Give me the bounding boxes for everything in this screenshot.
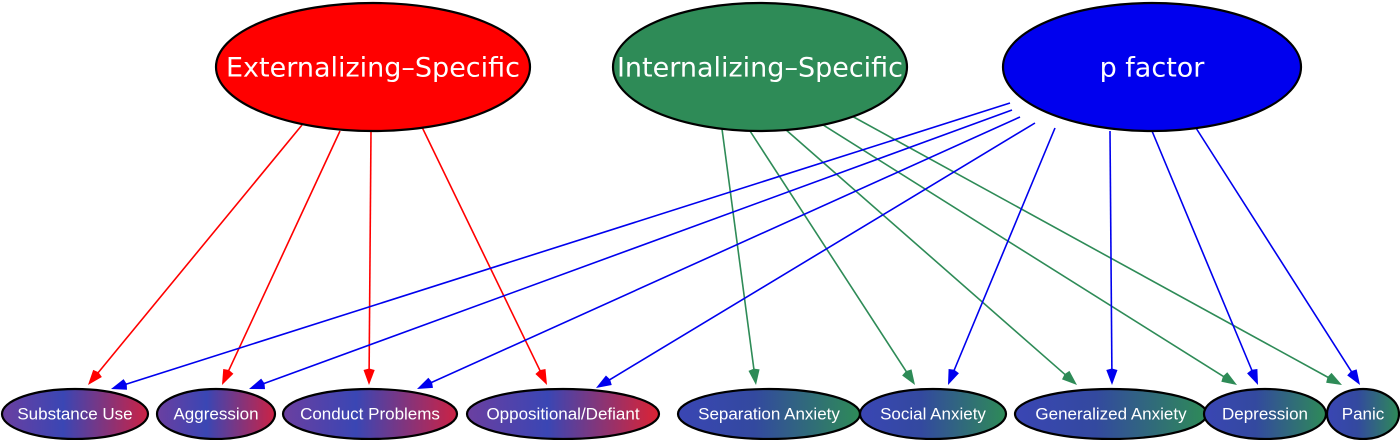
arrow-head-icon xyxy=(535,369,547,385)
path-diagram-canvas: Substance UseAggressionConduct ProblemsO… xyxy=(0,0,1400,440)
edge-internalizing-to-depression xyxy=(820,123,1237,385)
arrow-head-icon xyxy=(748,369,759,385)
edge-line xyxy=(785,129,1067,376)
factor-label: p factor xyxy=(1100,53,1206,84)
arrow-head-icon xyxy=(596,375,612,388)
indicator-label: Panic xyxy=(1342,404,1385,423)
indicator-label: Conduct Problems xyxy=(300,404,440,423)
arrow-head-icon xyxy=(1247,369,1258,385)
indicator-nodes-layer: Substance UseAggressionConduct ProblemsO… xyxy=(2,389,1399,439)
edge-line xyxy=(261,110,1012,385)
arrow-head-icon xyxy=(1106,369,1117,385)
sem-path-diagram: Substance UseAggressionConduct ProblemsO… xyxy=(0,0,1400,440)
indicator-node-oppositional-defiant[interactable]: Oppositional/Defiant xyxy=(467,389,659,439)
arrow-head-icon xyxy=(1221,372,1237,385)
arrow-head-icon xyxy=(364,369,375,385)
arrow-head-icon xyxy=(249,379,265,390)
factor-node-externalizing[interactable]: Externalizing–Specific xyxy=(216,3,530,131)
edge-line xyxy=(1152,131,1253,373)
indicator-node-separation-anxiety[interactable]: Separation Anxiety xyxy=(678,389,860,439)
indicator-label: Oppositional/Defiant xyxy=(486,404,639,423)
indicator-node-generalized-anxiety[interactable]: Generalized Anxiety xyxy=(1015,389,1207,439)
edge-line xyxy=(123,103,1010,385)
edge-pfactor-to-oppositional-defiant xyxy=(596,123,1035,388)
edge-line xyxy=(722,129,754,372)
edge-line xyxy=(421,125,541,373)
edge-line xyxy=(369,131,371,372)
arrow-head-icon xyxy=(417,378,433,389)
edges-layer xyxy=(88,103,1360,390)
arrow-head-icon xyxy=(902,369,915,385)
edge-line xyxy=(227,131,340,373)
factor-node-pfactor[interactable]: p factor xyxy=(1003,3,1301,131)
indicator-label: Substance Use xyxy=(17,404,132,423)
edge-line xyxy=(953,128,1055,373)
edge-line xyxy=(429,117,1020,384)
edge-pfactor-to-substance-use xyxy=(111,103,1010,390)
indicator-node-conduct-problems[interactable]: Conduct Problems xyxy=(283,389,457,439)
factor-nodes-layer: Externalizing–SpecificInternalizing–Spec… xyxy=(216,3,1301,131)
edge-externalizing-to-aggression xyxy=(222,131,340,385)
edge-externalizing-to-oppositional-defiant xyxy=(421,125,547,385)
indicator-label: Depression xyxy=(1222,404,1308,423)
arrow-head-icon xyxy=(111,379,127,390)
arrow-head-icon xyxy=(88,370,102,385)
edge-pfactor-to-aggression xyxy=(249,110,1012,389)
indicator-node-social-anxiety[interactable]: Social Anxiety xyxy=(860,389,1006,439)
edge-line xyxy=(607,123,1035,381)
arrow-head-icon xyxy=(948,369,959,385)
edge-pfactor-to-depression xyxy=(1152,131,1258,385)
factor-label: Externalizing–Specific xyxy=(226,53,520,84)
factor-label: Internalizing–Specific xyxy=(617,53,903,84)
arrow-head-icon xyxy=(222,369,233,385)
indicator-label: Social Anxiety xyxy=(880,404,986,423)
edge-line xyxy=(1110,131,1112,372)
indicator-node-aggression[interactable]: Aggression xyxy=(157,389,275,439)
indicator-label: Aggression xyxy=(173,404,258,423)
edge-line xyxy=(1196,128,1353,374)
edge-internalizing-to-separation-anxiety xyxy=(722,129,760,385)
indicator-label: Generalized Anxiety xyxy=(1035,404,1187,423)
indicator-node-substance-use[interactable]: Substance Use xyxy=(2,389,148,439)
indicator-node-depression[interactable]: Depression xyxy=(1204,389,1326,439)
arrow-head-icon xyxy=(1347,369,1360,385)
edge-pfactor-to-panic xyxy=(1196,128,1360,385)
edge-internalizing-to-social-anxiety xyxy=(750,131,915,385)
edge-externalizing-to-substance-use xyxy=(88,125,302,385)
indicator-node-panic[interactable]: Panic xyxy=(1327,389,1399,439)
indicator-label: Separation Anxiety xyxy=(698,404,840,423)
edge-line xyxy=(850,115,1331,379)
arrow-head-icon xyxy=(1326,373,1342,385)
factor-node-internalizing[interactable]: Internalizing–Specific xyxy=(613,3,907,131)
edge-pfactor-to-conduct-problems xyxy=(417,117,1020,389)
